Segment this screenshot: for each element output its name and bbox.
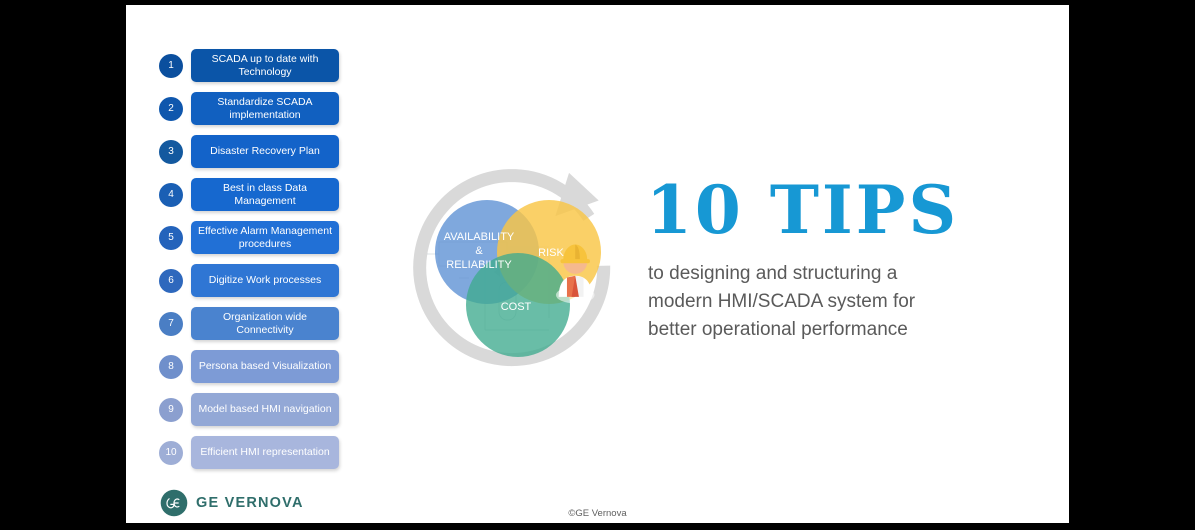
tip-number-badge: 5 (159, 226, 183, 250)
tip-row: 4Best in class Data Management (159, 178, 369, 211)
tip-label-pill: Standardize SCADA implementation (191, 92, 339, 125)
tip-number-badge: 8 (159, 355, 183, 379)
tip-row: 9Model based HMI navigation (159, 393, 369, 426)
tip-number-badge: 10 (159, 441, 183, 465)
tip-row: 3Disaster Recovery Plan (159, 135, 369, 168)
venn-label-availability-line2: & (475, 245, 483, 257)
tip-row: 5Effective Alarm Management procedures (159, 221, 369, 254)
tip-label-pill: Effective Alarm Management procedures (191, 221, 339, 254)
tip-row: 2Standardize SCADA implementation (159, 92, 369, 125)
tip-label-pill: Disaster Recovery Plan (191, 135, 339, 168)
subheadline-line: modern HMI/SCADA system for (648, 288, 1058, 316)
tip-label-pill: Digitize Work processes (191, 264, 339, 297)
tip-label-pill: Efficient HMI representation (191, 436, 339, 469)
tips-list: 1SCADA up to date with Technology2Standa… (159, 49, 369, 479)
tip-number-badge: 7 (159, 312, 183, 336)
venn-label-availability-line3: RELIABILITY (446, 259, 512, 271)
venn-label-cost: COST (501, 301, 532, 313)
presentation-slide: 1SCADA up to date with Technology2Standa… (126, 5, 1069, 523)
tip-label-pill: Model based HMI navigation (191, 393, 339, 426)
tip-number-badge: 6 (159, 269, 183, 293)
tip-row: 10Efficient HMI representation (159, 436, 369, 469)
tip-row: 7Organization wide Connectivity (159, 307, 369, 340)
venn-cycle-graphic: AVAILABILITY & RELIABILITY RISK COST (399, 150, 634, 385)
tip-label-pill: SCADA up to date with Technology (191, 49, 339, 82)
subheadline-line: better operational performance (648, 316, 1058, 344)
tip-number-badge: 2 (159, 97, 183, 121)
screenshot-stage: 1SCADA up to date with Technology2Standa… (0, 0, 1195, 530)
subheadline-line: to designing and structuring a (648, 260, 1058, 288)
tip-number-badge: 4 (159, 183, 183, 207)
footer-copyright: ©GE Vernova (126, 508, 1069, 519)
headline-10-tips: 10 TIPS (646, 177, 959, 243)
tip-number-badge: 9 (159, 398, 183, 422)
tip-label-pill: Best in class Data Management (191, 178, 339, 211)
tip-number-badge: 1 (159, 54, 183, 78)
tip-row: 8Persona based Visualization (159, 350, 369, 383)
venn-label-risk: RISK (538, 247, 564, 259)
tip-row: 6Digitize Work processes (159, 264, 369, 297)
venn-label-availability-line1: AVAILABILITY (444, 231, 515, 243)
tip-label-pill: Organization wide Connectivity (191, 307, 339, 340)
tip-row: 1SCADA up to date with Technology (159, 49, 369, 82)
tip-number-badge: 3 (159, 140, 183, 164)
subheadline: to designing and structuring a modern HM… (648, 260, 1058, 344)
tip-label-pill: Persona based Visualization (191, 350, 339, 383)
